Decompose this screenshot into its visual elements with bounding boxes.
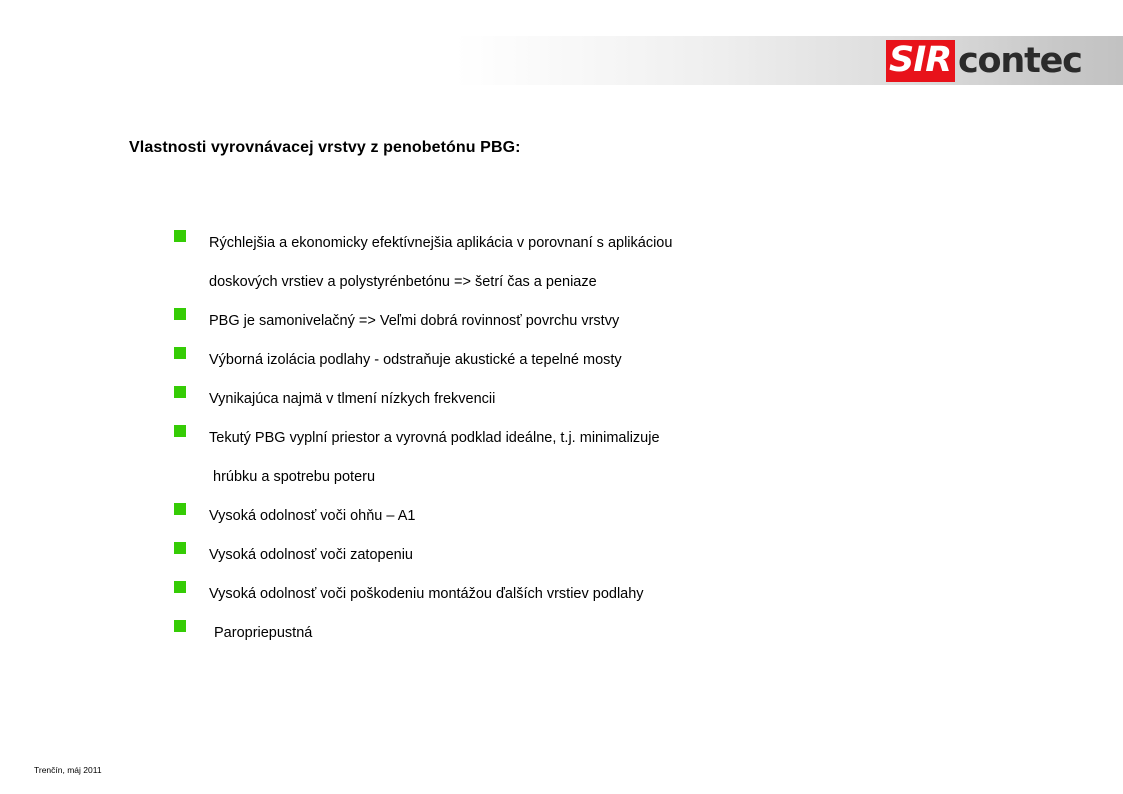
- list-item: Paropriepustná: [174, 614, 1034, 653]
- square-bullet-icon: [174, 425, 186, 437]
- list-item-text: Výborná izolácia podlahy - odstraňuje ak…: [209, 341, 1034, 380]
- page-title: Vlastnosti vyrovnávacej vrstvy z penobet…: [129, 139, 521, 157]
- bullet-list: Rýchlejšia a ekonomicky efektívnejšia ap…: [174, 224, 1034, 653]
- list-item-text: Vynikajúca najmä v tlmení nízkych frekve…: [209, 380, 1034, 419]
- list-item-continuation: hrúbku a spotrebu poteru: [174, 458, 1034, 497]
- square-bullet-icon: [174, 542, 186, 554]
- list-item-continuation-text: hrúbku a spotrebu poteru: [209, 458, 1034, 497]
- list-item-text: Rýchlejšia a ekonomicky efektívnejšia ap…: [209, 224, 1034, 263]
- list-item: PBG je samonivelačný => Veľmi dobrá rovi…: [174, 302, 1034, 341]
- list-item-text: Tekutý PBG vyplní priestor a vyrovná pod…: [209, 419, 1034, 458]
- list-item-text: Vysoká odolnosť voči ohňu – A1: [209, 497, 1034, 536]
- footer-note: Trenčín, máj 2011: [34, 765, 102, 775]
- list-item-text: Paropriepustná: [214, 614, 1034, 653]
- list-item: Vysoká odolnosť voči ohňu – A1: [174, 497, 1034, 536]
- list-item-continuation: doskových vrstiev a polystyrénbetónu => …: [174, 263, 1034, 302]
- square-bullet-icon: [174, 386, 186, 398]
- square-bullet-icon: [174, 620, 186, 632]
- square-bullet-icon: [174, 230, 186, 242]
- list-item: Tekutý PBG vyplní priestor a vyrovná pod…: [174, 419, 1034, 458]
- list-item-continuation-text: doskových vrstiev a polystyrénbetónu => …: [209, 263, 1034, 302]
- logo-mark-text: SIR: [889, 40, 951, 82]
- list-item: Vynikajúca najmä v tlmení nízkych frekve…: [174, 380, 1034, 419]
- list-item-text: PBG je samonivelačný => Veľmi dobrá rovi…: [209, 302, 1034, 341]
- sircontec-logo: SIR contec: [886, 40, 1082, 82]
- list-item: Rýchlejšia a ekonomicky efektívnejšia ap…: [174, 224, 1034, 263]
- logo-red-box: SIR: [886, 40, 955, 82]
- square-bullet-icon: [174, 503, 186, 515]
- list-item: Vysoká odolnosť voči poškodeniu montážou…: [174, 575, 1034, 614]
- square-bullet-icon: [174, 581, 186, 593]
- list-item: Vysoká odolnosť voči zatopeniu: [174, 536, 1034, 575]
- list-item: Výborná izolácia podlahy - odstraňuje ak…: [174, 341, 1034, 380]
- list-item-text: Vysoká odolnosť voči zatopeniu: [209, 536, 1034, 575]
- list-item-text: Vysoká odolnosť voči poškodeniu montážou…: [209, 575, 1034, 614]
- square-bullet-icon: [174, 308, 186, 320]
- square-bullet-icon: [174, 347, 186, 359]
- logo-wordmark: contec: [958, 40, 1082, 82]
